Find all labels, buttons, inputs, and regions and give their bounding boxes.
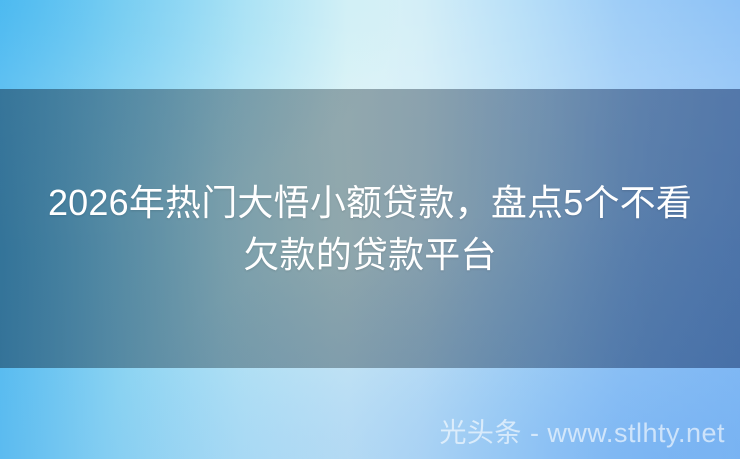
article-cover-banner: 2026年热门大悟小额贷款，盘点5个不看欠款的贷款平台 光头条 - www.st… <box>0 0 740 459</box>
headline-overlay-band: 2026年热门大悟小额贷款，盘点5个不看欠款的贷款平台 <box>0 89 740 368</box>
page-title: 2026年热门大悟小额贷款，盘点5个不看欠款的贷款平台 <box>20 177 720 279</box>
